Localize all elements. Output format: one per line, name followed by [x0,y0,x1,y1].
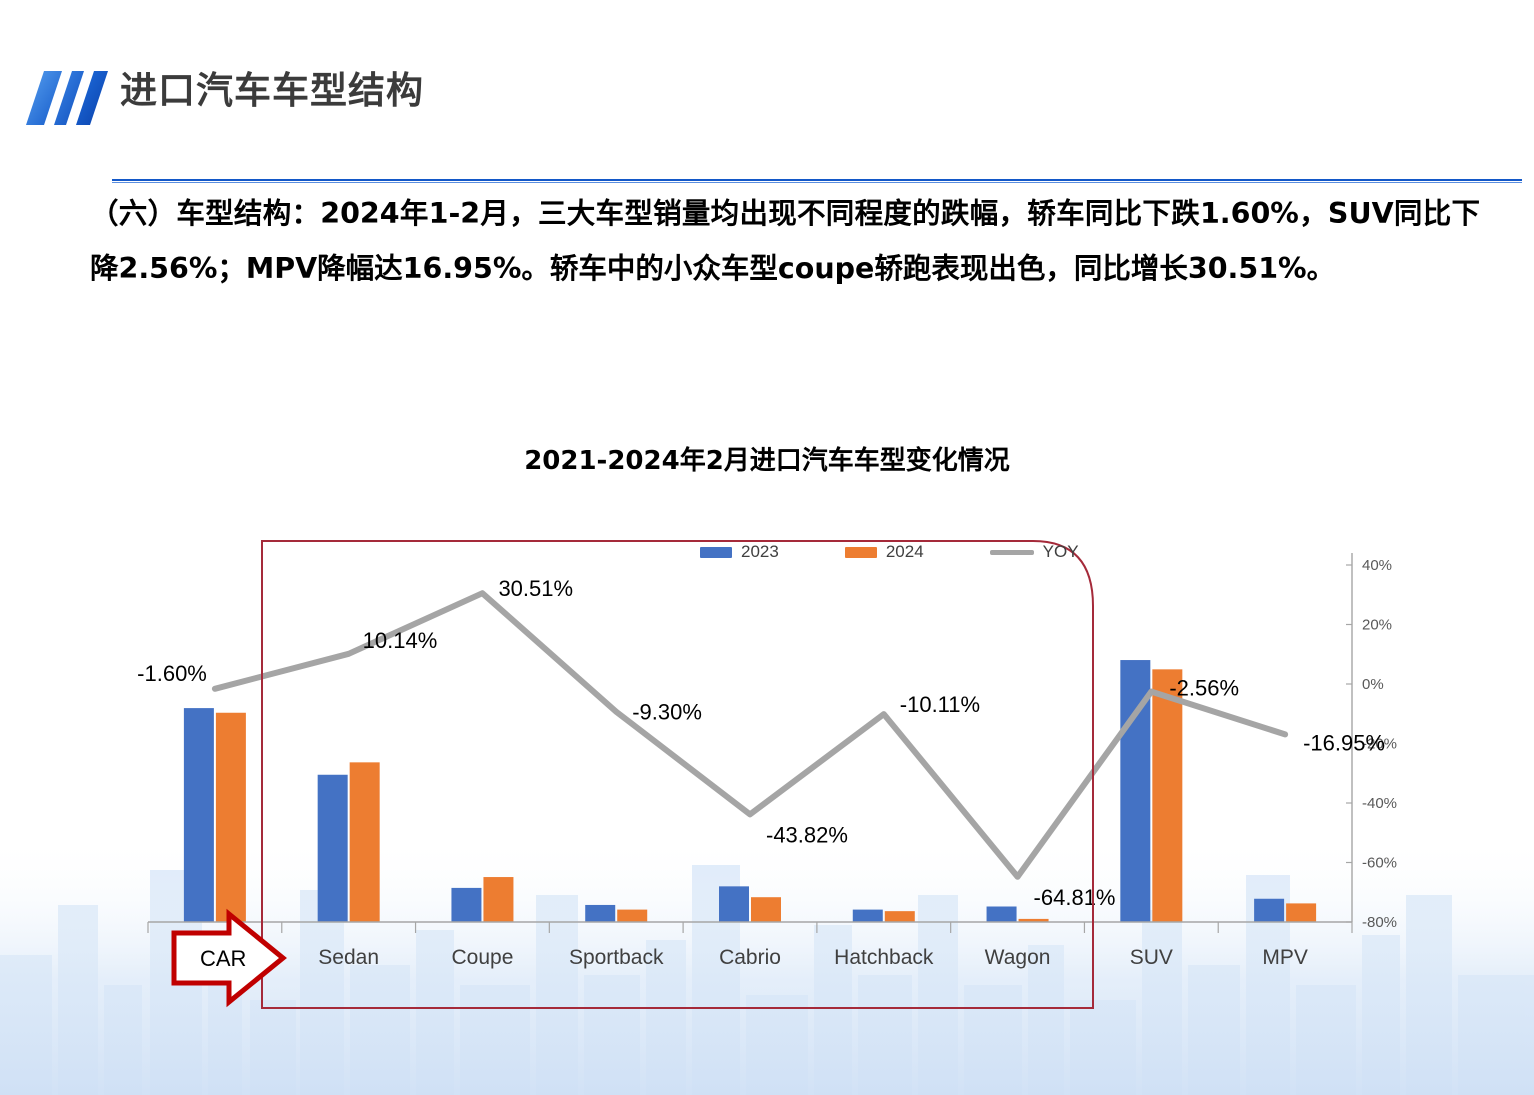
category-label-sportback: Sportback [569,946,664,969]
category-label-mpv: MPV [1262,946,1308,969]
bar-2024-cabrio [751,897,781,922]
bar-2024-sportback [617,910,647,922]
chart-title: 2021-2024年2月进口汽车车型变化情况 [0,440,1534,477]
bar-2023-sportback [585,905,615,922]
category-label-suv: SUV [1130,946,1173,969]
yoy-data-label-mpv: -16.95% [1303,730,1385,755]
legend-label-2023: 2023 [741,542,779,562]
page-title: 进口汽车车型结构 [120,60,424,114]
legend-item-2024: 2024 [845,542,924,562]
bar-2024-coupe [483,877,513,922]
chart-legend: 2023 2024 YOY [700,540,1100,564]
category-label-coupe: Coupe [451,946,513,969]
yoy-data-label-car: -1.60% [137,661,207,686]
legend-label-yoy: YOY [1043,542,1079,562]
bar-2023-cabrio [719,886,749,922]
legend-item-2023: 2023 [700,542,779,562]
body-paragraph: （六）车型结构：2024年1-2月，三大车型销量均出现不同程度的跌幅，轿车同比下… [90,186,1480,296]
bar-2023-wagon [987,907,1017,923]
bar-2023-mpv [1254,899,1284,922]
y-axis-right-label: 20% [1362,617,1392,634]
car-callout-label: CAR [200,946,246,971]
bar-2023-hatchback [853,910,883,922]
yoy-data-label-sportback: -9.30% [632,700,702,725]
chart-canvas: 40%20%0%-20%-40%-60%-80% CARSedanCoupeSp… [0,520,1534,1020]
yoy-data-label-coupe: 30.51% [498,576,573,601]
red-highlight-annotation-group: CAR [174,541,1093,1008]
bar-2023-sedan [318,775,348,922]
y-axis-right-label: -80% [1362,914,1397,931]
yoy-data-label-sedan: 10.14% [363,628,438,653]
legend-swatch-2023 [700,547,732,558]
yoy-data-label-hatchback: -10.11% [900,692,980,717]
bar-2024-sedan [350,762,380,922]
bar-2024-car [216,713,246,922]
header-divider [112,179,1522,184]
yoy-data-label-wagon: -64.81% [1034,885,1116,910]
bar-2024-hatchback [885,911,915,922]
category-labels-group: CARSedanCoupeSportbackCabrioHatchbackWag… [193,946,1308,969]
bar-2023-car [184,708,214,922]
bar-2023-coupe [451,888,481,922]
category-label-sedan: Sedan [318,946,379,969]
legend-swatch-yoy [990,550,1034,555]
legend-label-2024: 2024 [886,542,924,562]
legend-swatch-2024 [845,547,877,558]
y-axis-right-label: -60% [1362,855,1397,872]
category-label-wagon: Wagon [985,946,1051,969]
yoy-data-label-suv: -2.56% [1169,676,1239,701]
bar-2024-mpv [1286,903,1316,922]
y-axis-right-label: 0% [1362,676,1384,693]
category-label-cabrio: Cabrio [719,946,781,969]
y-axis-right-label: -40% [1362,795,1397,812]
yoy-data-label-cabrio: -43.82% [766,822,848,847]
category-label-hatchback: Hatchback [834,946,934,969]
legend-item-yoy: YOY [990,542,1079,562]
bar-2024-suv [1152,669,1182,922]
page-header: 进口汽车车型结构 [0,55,1534,145]
highlight-rounded-box [262,541,1093,1008]
y-axis-right-label: 40% [1362,557,1392,574]
